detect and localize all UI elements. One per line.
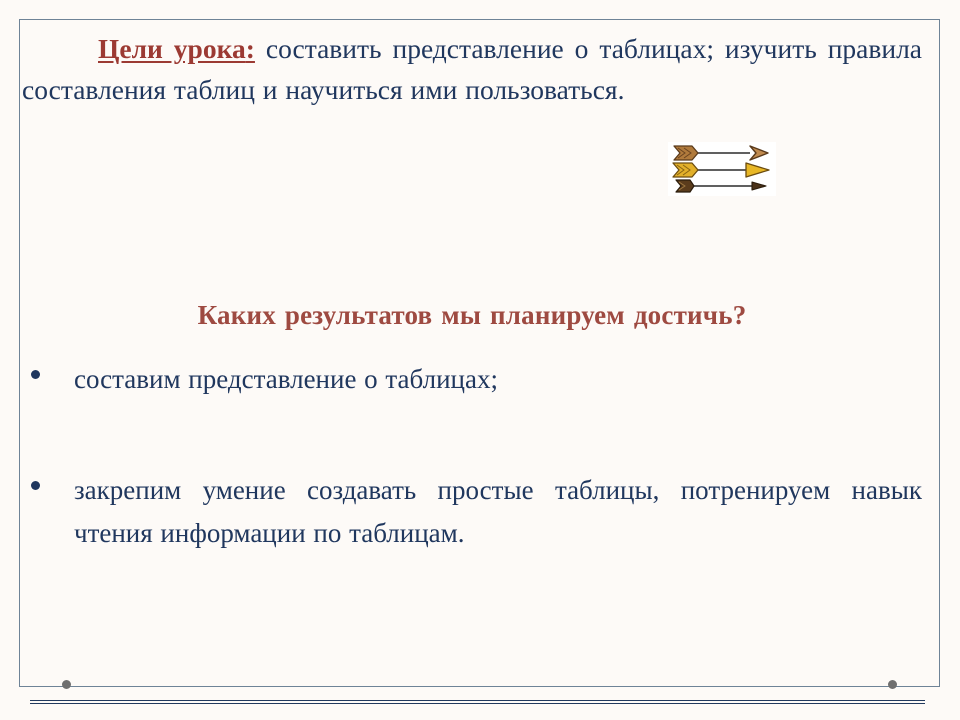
lesson-goals-colon: : bbox=[246, 33, 255, 64]
lesson-goals-paragraph: Цели урока: составить представление о та… bbox=[22, 28, 922, 110]
decorative-dot-right bbox=[888, 680, 897, 689]
decorative-dot-left bbox=[62, 680, 71, 689]
results-question-heading: Каких результатов мы планируем достичь? bbox=[22, 300, 922, 331]
content-frame bbox=[19, 19, 940, 687]
list-item-text: составим представление о таблицах; bbox=[74, 358, 922, 401]
bottom-double-rule bbox=[30, 700, 925, 704]
list-item: составим представление о таблицах; bbox=[22, 358, 922, 401]
lesson-goals-label: Цели урока bbox=[98, 33, 246, 64]
three-arrows-icon bbox=[668, 142, 776, 196]
slide: Цели урока: составить представление о та… bbox=[0, 0, 960, 720]
list-item: закрепим умение создавать простые таблиц… bbox=[22, 469, 922, 555]
bullet-dot-icon bbox=[31, 481, 40, 490]
bullet-dot-icon bbox=[31, 370, 40, 379]
list-item-text: закрепим умение создавать простые таблиц… bbox=[74, 469, 922, 555]
